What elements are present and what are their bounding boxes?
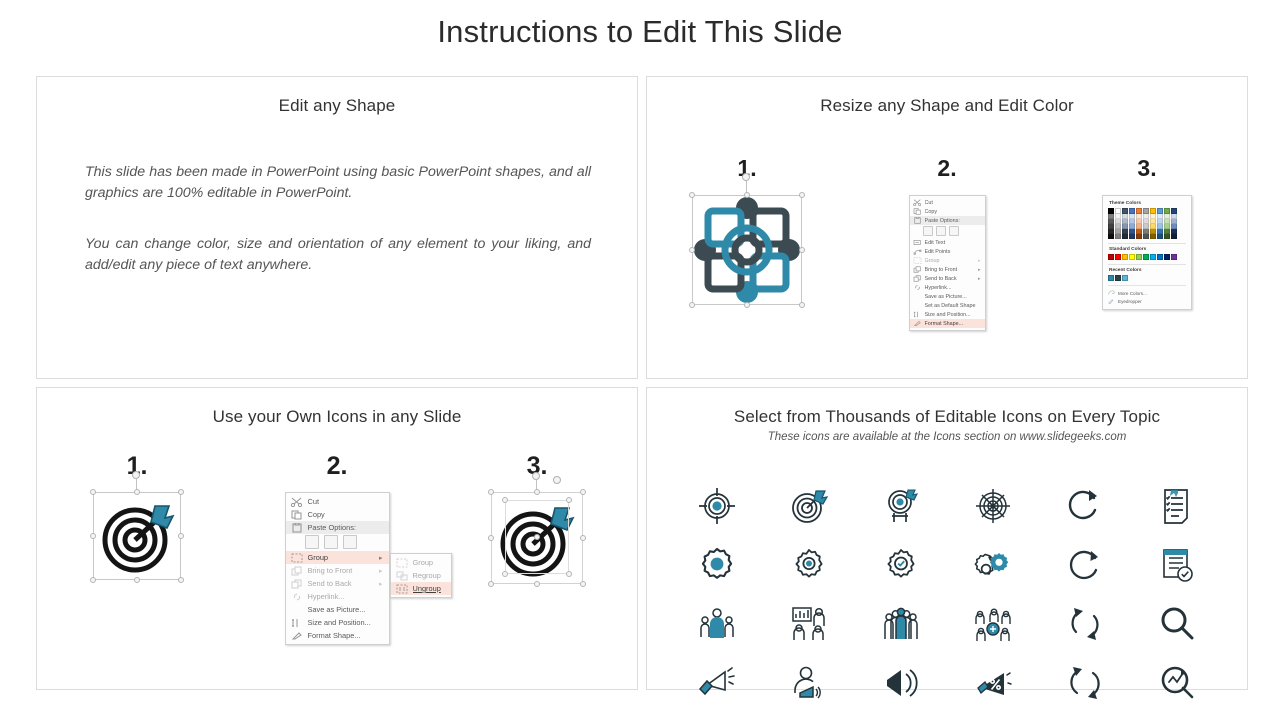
paste-keep-text-button[interactable] — [949, 226, 959, 236]
handle-sub-top-right[interactable] — [566, 497, 572, 503]
hyperlink-icon — [913, 284, 922, 291]
menu-item-edit-text[interactable]: Edit Text — [910, 238, 985, 247]
more-colors-label: More Colors... — [1118, 291, 1147, 296]
group-icon — [396, 558, 408, 568]
menu-label: Size and Position... — [925, 312, 981, 318]
theme-colors-row — [1108, 208, 1186, 239]
loudspeaker-icon — [881, 663, 921, 703]
magnifier-analytics-icon — [1157, 663, 1197, 703]
handle-middle-right[interactable] — [178, 533, 184, 539]
icon-cell[interactable] — [671, 653, 763, 712]
icon-cell[interactable] — [1039, 535, 1131, 594]
menu-item-paste-options[interactable]: Paste Options: — [286, 521, 389, 534]
menu-label: Format Shape... — [925, 321, 981, 327]
panel-resize-shape: Resize any Shape and Edit Color 1. 2. 3. — [646, 76, 1248, 379]
dartboard-arrow-icon — [789, 486, 829, 526]
bring-front-icon — [291, 566, 303, 576]
swatch[interactable] — [1108, 275, 1114, 281]
paste-icon — [291, 523, 303, 533]
send-back-icon — [291, 579, 303, 589]
menu-label: Edit Points — [925, 249, 981, 255]
icon-cell[interactable] — [947, 535, 1039, 594]
paste-keep-text-button[interactable] — [343, 535, 357, 549]
save-picture-icon — [291, 605, 303, 615]
chevron-right-icon: ▸ — [978, 276, 981, 282]
presentation-team-icon — [789, 604, 829, 644]
menu-item-format-shape[interactable]: Format Shape... — [910, 319, 985, 328]
swatch[interactable] — [1171, 254, 1177, 260]
handle-bottom-right[interactable] — [799, 302, 805, 308]
theme-color-column[interactable] — [1136, 208, 1142, 239]
theme-color-column[interactable] — [1122, 208, 1128, 239]
eyedropper-label: Eyedropper — [1118, 299, 1142, 304]
icon-cell[interactable] — [1131, 476, 1223, 535]
resize-step-figure-2: Cut Copy — [847, 195, 1047, 331]
menu-label: Paste Options: — [308, 523, 383, 532]
selected-target-icon[interactable] — [93, 492, 181, 580]
submenu-item-group[interactable]: Group — [391, 556, 451, 569]
menu-item-group[interactable]: Group ▸ — [286, 551, 389, 564]
icon-cell[interactable] — [855, 476, 947, 535]
icon-cell[interactable] — [671, 476, 763, 535]
own-icons-step-figure-3 — [437, 492, 637, 584]
menu-label: Copy — [925, 209, 981, 215]
menu-item-hyperlink[interactable]: Hyperlink... — [286, 590, 389, 603]
format-shape-icon — [913, 320, 922, 327]
color-picker-palette[interactable]: Theme Colors — [1102, 195, 1192, 310]
chevron-right-icon: ▸ — [978, 258, 981, 264]
menu-label: Cut — [308, 497, 383, 506]
hyperlink-icon — [291, 592, 303, 602]
own-icons-steps: 1. 2. 3. — [37, 388, 637, 689]
theme-color-column[interactable] — [1129, 208, 1135, 239]
menu-item-cut[interactable]: Cut — [910, 198, 985, 207]
icon-cell[interactable] — [763, 653, 855, 712]
menu-item-hyperlink[interactable]: Hyperlink... — [910, 283, 985, 292]
rotate-handle[interactable] — [132, 471, 140, 479]
handle-bottom-center[interactable] — [534, 581, 540, 587]
icon-cell[interactable] — [855, 594, 947, 653]
rotate-handle-secondary[interactable] — [553, 476, 561, 484]
scissors-icon — [913, 199, 922, 206]
checklist-document-icon — [1157, 486, 1197, 526]
handle-bottom-left[interactable] — [90, 577, 96, 583]
checklist-approved-icon — [1157, 545, 1197, 585]
theme-color-column[interactable] — [1157, 208, 1163, 239]
handle-top-center[interactable] — [744, 192, 750, 198]
icon-cell[interactable] — [947, 653, 1039, 712]
menu-item-size-and-position[interactable]: Size and Position... — [286, 616, 389, 629]
theme-color-column[interactable] — [1164, 208, 1170, 239]
own-icons-step-numbers: 1. 2. 3. — [37, 452, 637, 481]
edit-points-icon — [913, 248, 922, 255]
resize-step-figure-1 — [647, 195, 847, 305]
gears-double-icon — [973, 545, 1013, 585]
swatch[interactable] — [1129, 254, 1135, 260]
target-crosshair-filled-icon — [697, 486, 737, 526]
menu-item-paste-options[interactable]: Paste Options: — [910, 216, 985, 225]
menu-label: Send to Back — [308, 579, 379, 588]
menu-label: Group — [413, 558, 445, 567]
copy-icon — [291, 510, 303, 520]
icon-cell[interactable] — [763, 594, 855, 653]
color-section-heading-theme: Theme Colors — [1109, 201, 1186, 206]
menu-item-format-shape[interactable]: Format Shape... — [286, 629, 389, 642]
menu-label: Group — [925, 258, 978, 264]
menu-item-bring-to-front[interactable]: Bring to Front ▸ — [910, 265, 985, 274]
color-picker-eyedropper[interactable]: Eyedropper — [1108, 297, 1186, 305]
selected-four-quadrant-shape[interactable] — [692, 195, 802, 305]
menu-label: Send to Back — [925, 276, 978, 282]
scissors-icon — [291, 497, 303, 507]
color-picker-more-colors[interactable]: More Colors... — [1108, 289, 1186, 297]
icon-cell[interactable] — [671, 535, 763, 594]
icon-cell[interactable] — [947, 594, 1039, 653]
menu-label: Bring to Front — [925, 267, 978, 273]
swatch[interactable] — [1143, 254, 1149, 260]
menu-label: Save as Picture... — [925, 294, 981, 300]
handle-middle-right[interactable] — [580, 535, 586, 541]
copy-icon — [913, 208, 922, 215]
page-title: Instructions to Edit This Slide — [0, 14, 1280, 50]
handle-top-center[interactable] — [534, 489, 540, 495]
menu-label: Hyperlink... — [308, 592, 383, 601]
resize-step-figure-3: Theme Colors — [1047, 195, 1247, 310]
menu-item-save-as-picture[interactable]: Save as Picture... — [286, 603, 389, 616]
paste-picture-button[interactable] — [324, 535, 338, 549]
handle-middle-left[interactable] — [689, 247, 695, 253]
menu-item-send-to-back[interactable]: Send to Back ▸ — [910, 274, 985, 283]
resize-steps: 1. 2. 3. — [647, 77, 1247, 378]
icon-cell[interactable] — [1039, 594, 1131, 653]
resize-step-numbers: 1. 2. 3. — [647, 155, 1247, 182]
context-menu-format-shape[interactable]: Cut Copy — [909, 195, 986, 331]
menu-label: Save as Picture... — [308, 605, 383, 614]
paste-picture-button[interactable] — [936, 226, 946, 236]
handle-middle-left[interactable] — [488, 535, 494, 541]
swatch[interactable] — [1157, 254, 1163, 260]
resize-step-number-2: 2. — [847, 155, 1047, 182]
menu-item-cut[interactable]: Cut — [286, 495, 389, 508]
menu-label: Regroup — [413, 571, 445, 580]
handle-top-left[interactable] — [689, 192, 695, 198]
handle-bottom-right[interactable] — [178, 577, 184, 583]
handle-sub-bottom-left[interactable] — [502, 571, 508, 577]
icon-cell[interactable] — [763, 535, 855, 594]
handle-top-left[interactable] — [488, 489, 494, 495]
color-section-heading-standard: Standard Colors — [1109, 247, 1186, 252]
theme-color-column[interactable] — [1115, 208, 1121, 239]
menu-label: Cut — [925, 200, 981, 206]
menu-item-set-default-shape[interactable]: Set as Default Shape — [910, 301, 985, 310]
save-picture-icon — [913, 293, 922, 300]
menu-item-copy[interactable]: Copy — [286, 508, 389, 521]
chevron-right-icon: ▸ — [379, 554, 383, 562]
menu-label: Copy — [308, 510, 383, 519]
menu-item-send-to-back[interactable]: Send to Back ▸ — [286, 577, 389, 590]
person-megaphone-icon — [789, 663, 829, 703]
panel-icon-library: Select from Thousands of Editable Icons … — [646, 387, 1248, 690]
eyedropper-icon — [1108, 298, 1115, 304]
menu-item-group[interactable]: Group ▸ — [910, 256, 985, 265]
swatch[interactable] — [1108, 254, 1114, 260]
icon-cell[interactable] — [1039, 653, 1131, 712]
group-submenu[interactable]: Group Regroup — [390, 553, 452, 598]
menu-label: Format Shape... — [308, 631, 383, 640]
ungroup-icon — [396, 584, 408, 594]
standard-colors-row — [1108, 254, 1186, 260]
size-position-icon — [291, 618, 303, 628]
menu-label: Edit Text — [925, 240, 981, 246]
handle-sub-top-left[interactable] — [502, 497, 508, 503]
ungrouped-target-icon[interactable] — [491, 492, 583, 584]
target-stand-arrow-icon — [881, 486, 921, 526]
icon-cell[interactable] — [1039, 476, 1131, 535]
handle-sub-bottom-right[interactable] — [566, 571, 572, 577]
handle-top-right[interactable] — [178, 489, 184, 495]
edit-shape-body: This slide has been made in PowerPoint u… — [85, 162, 591, 276]
paste-icon — [913, 217, 922, 224]
handle-bottom-left[interactable] — [689, 302, 695, 308]
refresh-circle-icon — [1065, 545, 1105, 585]
panel-title-edit-shape: Edit any Shape — [37, 96, 637, 116]
size-position-icon — [913, 311, 922, 318]
edit-shape-paragraph-1: This slide has been made in PowerPoint u… — [85, 162, 591, 204]
handle-top-center[interactable] — [134, 489, 140, 495]
format-shape-icon — [291, 631, 303, 641]
own-icons-step-figure-2: Cut Copy — [237, 492, 437, 645]
rotate-handle[interactable] — [532, 472, 540, 480]
panel-title-icon-library: Select from Thousands of Editable Icons … — [647, 407, 1247, 427]
sync-vertical-icon — [1065, 604, 1105, 644]
edit-text-icon — [913, 239, 922, 246]
megaphone-discount-icon — [973, 663, 1013, 703]
sync-circular-icon — [1065, 663, 1105, 703]
menu-label: Ungroup — [413, 584, 445, 593]
handle-bottom-center[interactable] — [744, 302, 750, 308]
menu-item-size-and-position[interactable]: Size and Position... — [910, 310, 985, 319]
palette-icon — [1108, 290, 1115, 296]
swatch[interactable] — [1115, 254, 1121, 260]
panel-own-icons: Use your Own Icons in any Slide 1. 2. 3. — [36, 387, 638, 690]
chevron-right-icon: ▸ — [379, 567, 383, 575]
group-icon — [291, 553, 303, 563]
icon-cell[interactable] — [1131, 535, 1223, 594]
paste-keep-formatting-button[interactable] — [305, 535, 319, 549]
own-icons-step-figures: Cut Copy — [37, 492, 637, 645]
handle-sub-center[interactable] — [534, 534, 540, 540]
send-back-icon — [913, 275, 922, 282]
own-icons-step-figure-1 — [37, 492, 237, 580]
gear-filled-icon — [697, 545, 737, 585]
slide-canvas: Instructions to Edit This Slide Edit any… — [0, 0, 1280, 720]
menu-label: Size and Position... — [308, 618, 383, 627]
icon-cell[interactable] — [947, 476, 1039, 535]
bring-front-icon — [913, 266, 922, 273]
handle-bottom-left[interactable] — [488, 581, 494, 587]
icon-cell[interactable] — [855, 653, 947, 712]
handle-middle-right[interactable] — [799, 247, 805, 253]
gear-outline-icon — [789, 545, 829, 585]
handle-top-right[interactable] — [580, 489, 586, 495]
menu-label: Bring to Front — [308, 566, 379, 575]
paste-keep-formatting-button[interactable] — [923, 226, 933, 236]
crosshair-radar-icon — [973, 486, 1013, 526]
swatch[interactable] — [1150, 254, 1156, 260]
theme-color-column[interactable] — [1108, 208, 1114, 239]
handle-top-right[interactable] — [799, 192, 805, 198]
refresh-clockwise-icon — [1065, 486, 1105, 526]
edit-shape-paragraph-2: You can change color, size and orientati… — [85, 234, 591, 276]
selection-frame — [692, 195, 802, 305]
selection-frame — [93, 492, 181, 580]
group-people-icon — [881, 604, 921, 644]
magnifier-icon — [1157, 604, 1197, 644]
icon-cell[interactable] — [855, 535, 947, 594]
swatch[interactable] — [1122, 254, 1128, 260]
submenu-item-ungroup[interactable]: Ungroup — [391, 582, 451, 595]
handle-bottom-center[interactable] — [134, 577, 140, 583]
theme-color-column[interactable] — [1171, 208, 1177, 239]
handle-bottom-right[interactable] — [580, 581, 586, 587]
meeting-network-icon — [973, 604, 1013, 644]
swatch[interactable] — [1164, 254, 1170, 260]
context-menu-group-ungroup[interactable]: Cut Copy — [285, 492, 390, 645]
menu-label: Paste Options: — [925, 218, 981, 224]
resize-step-figures: Cut Copy — [647, 195, 1247, 331]
swatch[interactable] — [1115, 275, 1121, 281]
menu-label: Group — [308, 553, 379, 562]
paste-options-row — [910, 225, 985, 238]
handle-middle-left[interactable] — [90, 533, 96, 539]
menu-item-edit-points[interactable]: Edit Points — [910, 247, 985, 256]
resize-step-number-3: 3. — [1047, 155, 1247, 182]
submenu-item-regroup[interactable]: Regroup — [391, 569, 451, 582]
chevron-right-icon: ▸ — [978, 267, 981, 273]
default-shape-icon — [913, 302, 922, 309]
regroup-icon — [396, 571, 408, 581]
swatch[interactable] — [1122, 275, 1128, 281]
menu-label: Hyperlink... — [925, 285, 981, 291]
team-leader-icon — [697, 604, 737, 644]
icon-gallery-grid — [671, 476, 1223, 712]
icon-cell[interactable] — [671, 594, 763, 653]
own-icons-step-number-2: 2. — [237, 452, 437, 481]
recent-colors-row — [1108, 275, 1186, 281]
icon-cell[interactable] — [1131, 594, 1223, 653]
gear-check-icon — [881, 545, 921, 585]
megaphone-announce-icon — [697, 663, 737, 703]
group-icon — [913, 257, 922, 264]
menu-label: Set as Default Shape — [925, 303, 981, 309]
menu-item-bring-to-front[interactable]: Bring to Front ▸ — [286, 564, 389, 577]
theme-color-column[interactable] — [1143, 208, 1149, 239]
icon-cell[interactable] — [763, 476, 855, 535]
icon-cell[interactable] — [1131, 653, 1223, 712]
panel-grid: Edit any Shape This slide has been made … — [36, 76, 1248, 692]
rotate-handle[interactable] — [742, 173, 750, 181]
handle-top-left[interactable] — [90, 489, 96, 495]
menu-item-copy[interactable]: Copy — [910, 207, 985, 216]
theme-color-column[interactable] — [1150, 208, 1156, 239]
menu-item-save-as-picture[interactable]: Save as Picture... — [910, 292, 985, 301]
panel-subtitle-icon-library: These icons are available at the Icons s… — [647, 431, 1247, 443]
panel-edit-any-shape: Edit any Shape This slide has been made … — [36, 76, 638, 379]
chevron-right-icon: ▸ — [379, 580, 383, 588]
swatch[interactable] — [1136, 254, 1142, 260]
paste-options-row — [286, 534, 389, 551]
color-section-heading-recent: Recent Colors — [1109, 268, 1186, 273]
